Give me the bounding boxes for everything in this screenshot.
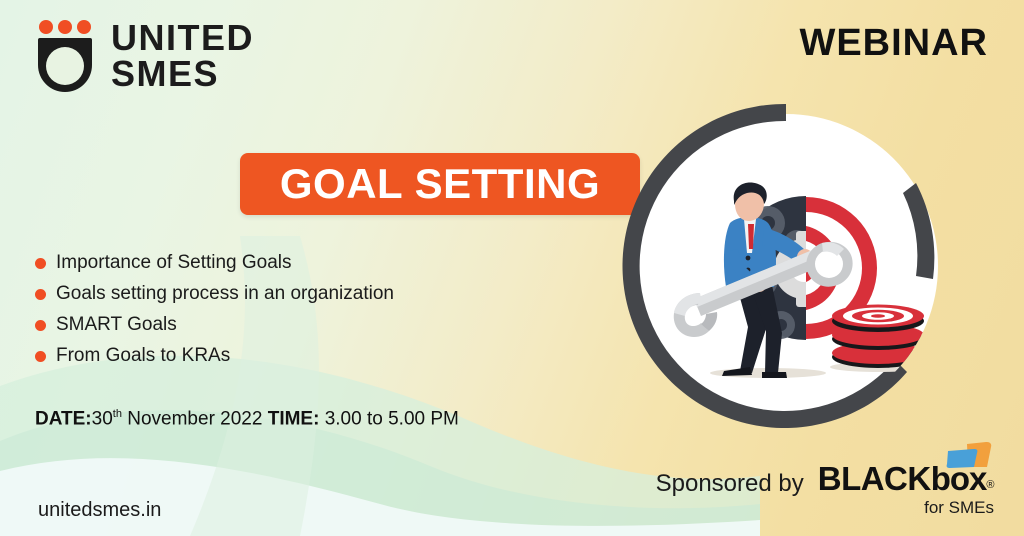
brand-logo: UNITED SMES [38,20,254,92]
sponsor-block: Sponsored by BLACKbox® for SMEs [656,462,994,518]
brand-wordmark: UNITED SMES [111,20,254,92]
topic-label: SMART Goals [56,314,177,336]
folder-icon [946,441,992,469]
blackbox-tagline: for SMEs [818,498,994,518]
sponsored-by-label: Sponsored by [656,470,804,518]
brand-name-line1: UNITED [111,20,254,56]
stacked-target-discs [832,305,924,369]
united-smes-logo-icon [38,20,94,92]
logo-dots [39,20,94,34]
date-day-suffix: th [113,408,122,420]
event-type-label: WEBINAR [799,22,988,65]
logo-dot [58,20,72,34]
schedule-line: DATE:30th November 2022 TIME: 3.00 to 5.… [35,408,459,430]
list-item: SMART Goals [35,314,394,336]
list-item: From Goals to KRAs [35,345,394,367]
topic-label: From Goals to KRAs [56,345,230,367]
registered-mark: ® [986,479,994,491]
date-day: 30 [92,408,113,429]
topic-label: Importance of Setting Goals [56,252,292,274]
bullet-dot-icon [35,289,46,300]
goal-setting-illustration [616,83,956,449]
website-url[interactable]: unitedsmes.in [38,499,161,522]
blackbox-name-bold: BLACK [818,460,931,497]
topics-list: Importance of Setting Goals Goals settin… [35,252,394,376]
brand-name-line2: SMES [111,56,254,92]
bullet-dot-icon [35,258,46,269]
bullet-dot-icon [35,320,46,331]
date-rest: November 2022 [122,408,268,429]
page-title: GOAL SETTING [280,160,600,208]
webinar-promo-banner: UNITED SMES WEBINAR GOAL SETTING Importa… [0,0,1024,536]
logo-shape [38,38,92,92]
logo-dot [77,20,91,34]
date-label: DATE: [35,408,92,429]
bullet-dot-icon [35,351,46,362]
blackbox-logo: BLACKbox® for SMEs [818,462,994,518]
list-item: Importance of Setting Goals [35,252,394,274]
logo-dot [39,20,53,34]
time-label: TIME: [268,408,320,429]
time-value: 3.00 to 5.00 PM [319,408,458,429]
title-banner: GOAL SETTING [240,153,640,215]
topic-label: Goals setting process in an organization [56,283,394,305]
list-item: Goals setting process in an organization [35,283,394,305]
